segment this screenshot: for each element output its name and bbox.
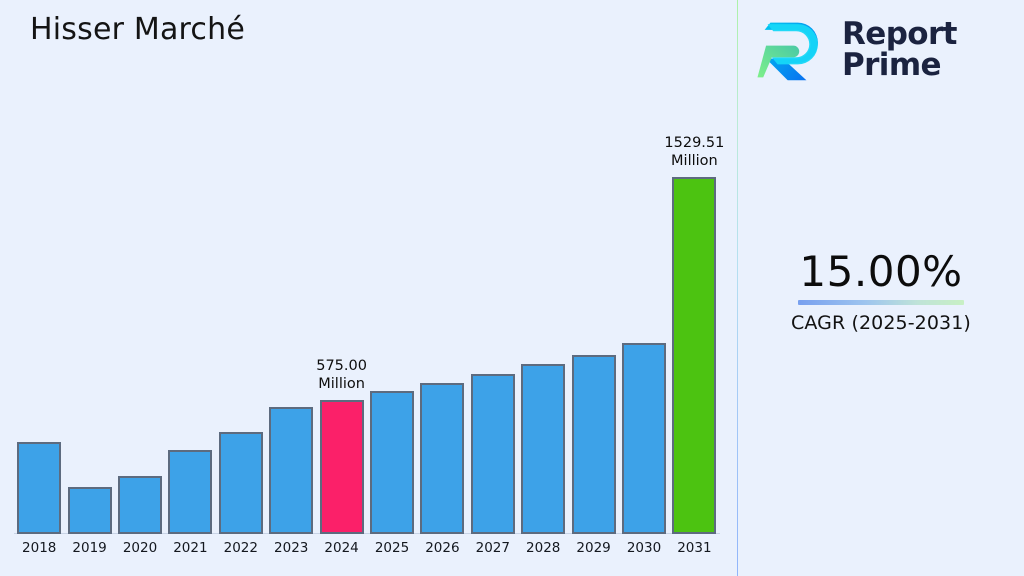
bar-2024 [320, 400, 364, 534]
cagr-divider-rule [798, 300, 964, 305]
x-tick-label-2023: 2023 [266, 540, 316, 556]
brand-logo: Report Prime [756, 14, 957, 86]
x-tick-label-2028: 2028 [518, 540, 568, 556]
bar-2027 [471, 374, 515, 534]
bar-2020 [118, 476, 162, 534]
bar-2019 [68, 487, 112, 534]
bar-2029 [572, 355, 616, 534]
bar-2022 [219, 432, 263, 534]
brand-line-2: Prime [842, 50, 957, 81]
infographic-root: Hisser Marché 20182019202020212022202320… [0, 0, 1024, 576]
chart-panel: Hisser Marché 20182019202020212022202320… [0, 0, 738, 576]
bar-chart-plot-area: 2018201920202021202220232024202520262027… [0, 0, 738, 576]
bar-value-amount: 575.00 [272, 358, 412, 376]
x-tick-label-2031: 2031 [669, 540, 719, 556]
bar-2021 [168, 450, 212, 534]
x-tick-label-2021: 2021 [165, 540, 215, 556]
bar-2025 [370, 391, 414, 534]
side-panel: Report Prime 15.00% CAGR (2025-2031) [738, 0, 1024, 576]
x-tick-label-2027: 2027 [468, 540, 518, 556]
cagr-block: 15.00% CAGR (2025-2031) [738, 250, 1024, 334]
x-tick-label-2024: 2024 [316, 540, 366, 556]
bar-2028 [521, 364, 565, 534]
bar-2023 [269, 407, 313, 534]
bar-2031 [672, 177, 716, 534]
x-tick-label-2029: 2029 [568, 540, 618, 556]
bar-2026 [420, 383, 464, 534]
bar-2018 [17, 442, 61, 534]
bar-2030 [622, 343, 666, 534]
x-tick-label-2018: 2018 [14, 540, 64, 556]
x-tick-label-2022: 2022 [216, 540, 266, 556]
x-tick-label-2019: 2019 [64, 540, 114, 556]
x-tick-label-2025: 2025 [367, 540, 417, 556]
brand-line-1: Report [842, 19, 957, 50]
brand-wordmark: Report Prime [842, 19, 957, 81]
bar-value-label-2024: 575.00Million [272, 358, 412, 393]
cagr-caption: CAGR (2025-2031) [738, 312, 1024, 334]
report-prime-logo-icon [756, 14, 828, 86]
x-tick-label-2026: 2026 [417, 540, 467, 556]
cagr-value: 15.00% [738, 250, 1024, 294]
x-tick-label-2020: 2020 [115, 540, 165, 556]
x-tick-label-2030: 2030 [619, 540, 669, 556]
